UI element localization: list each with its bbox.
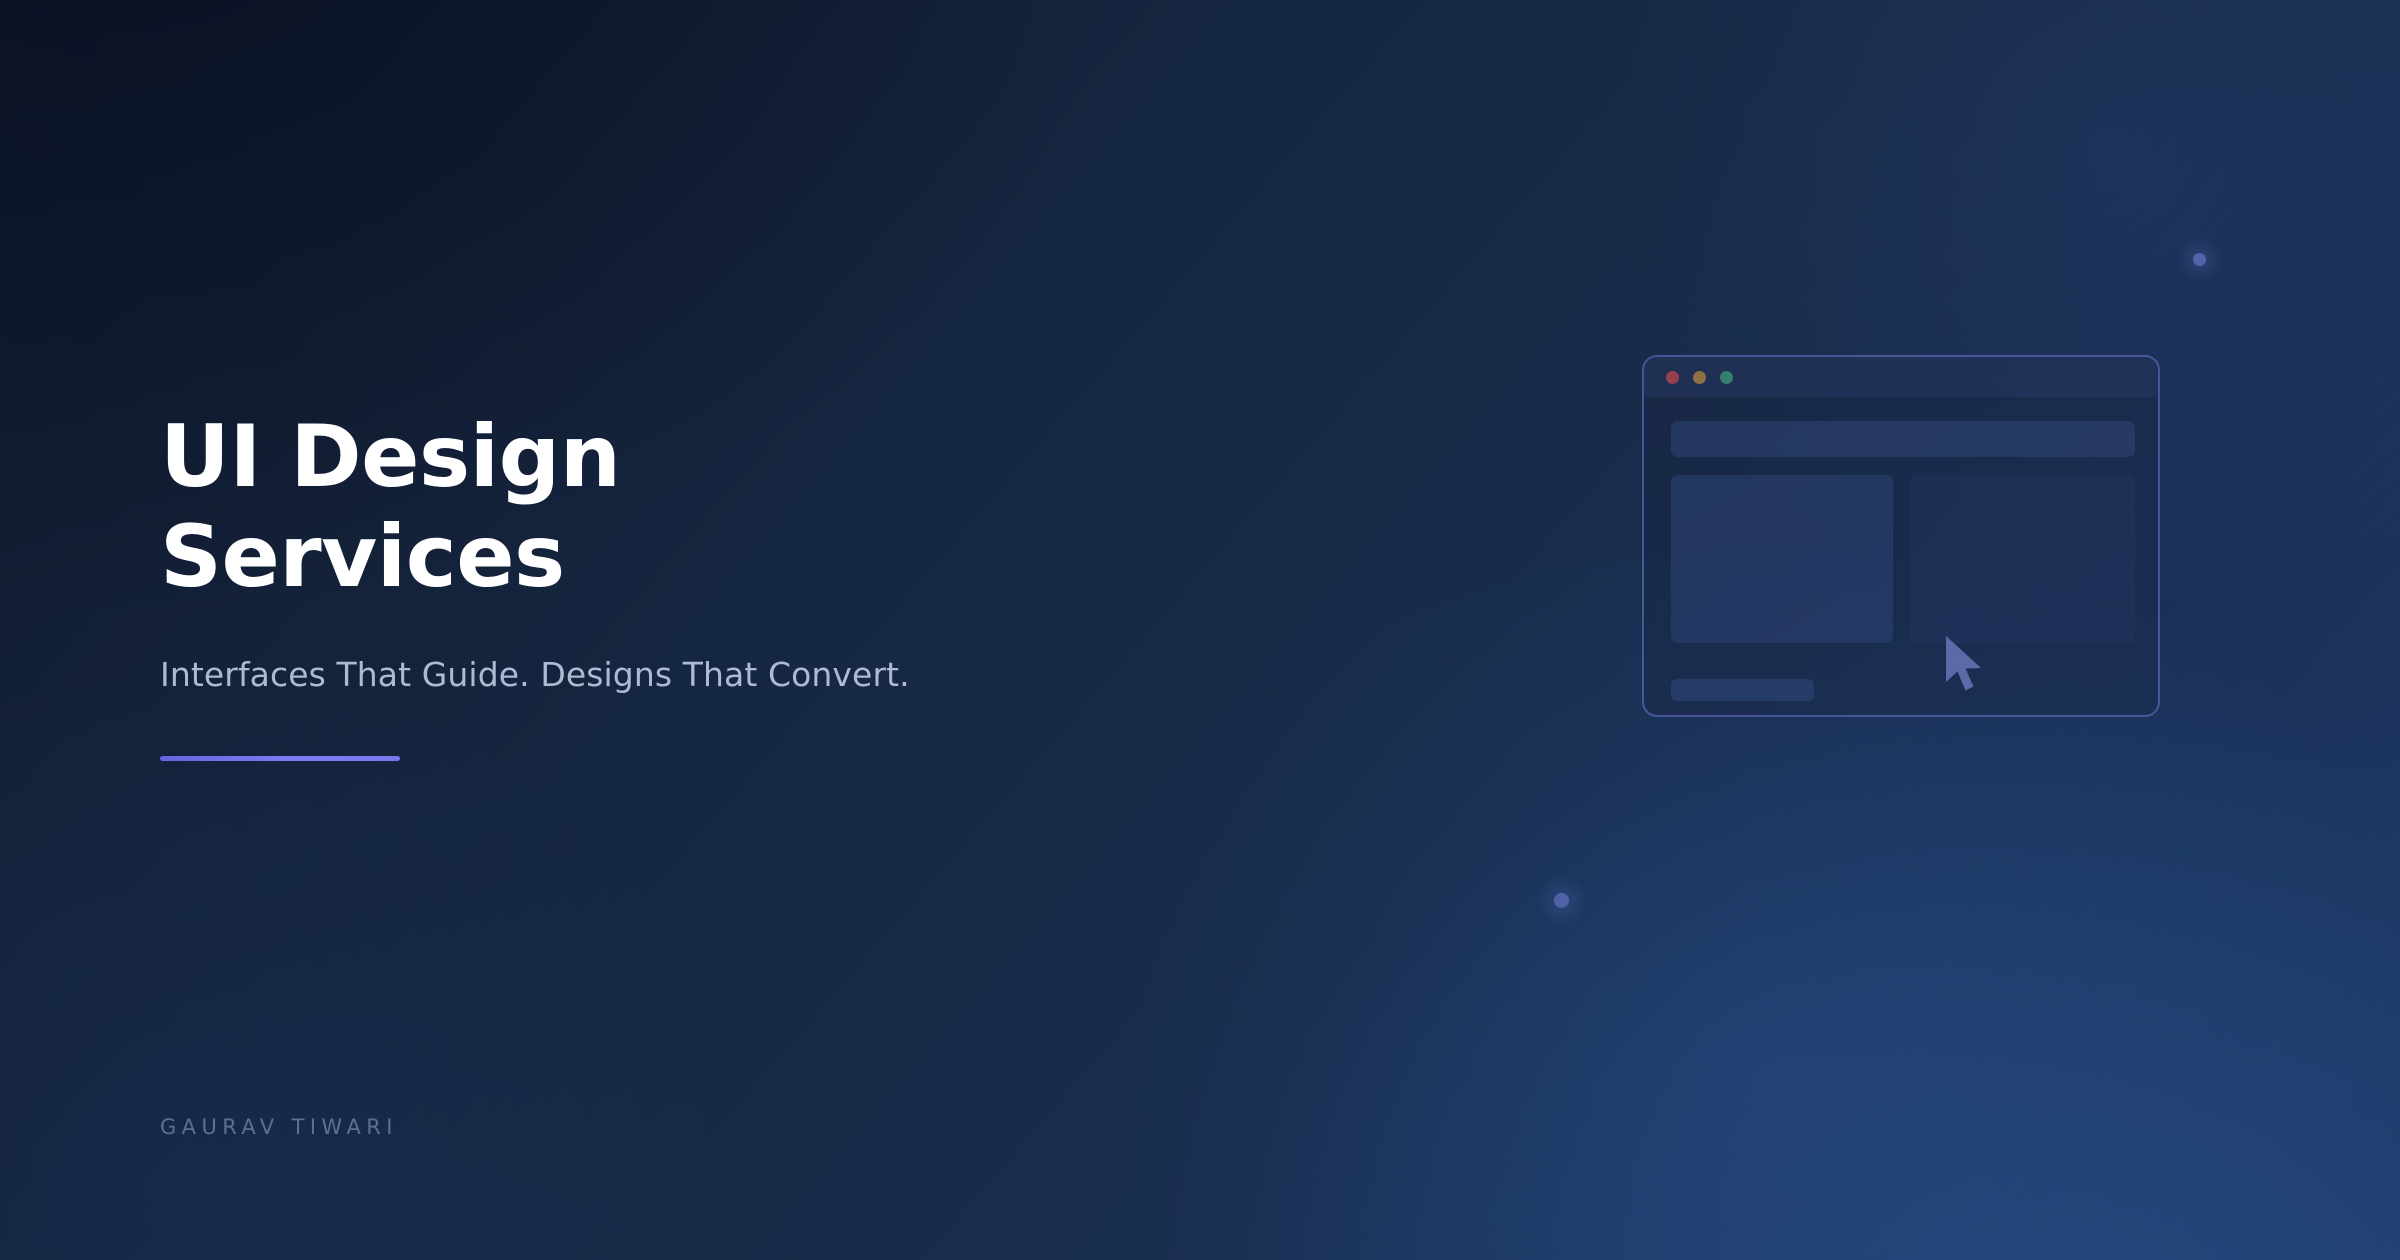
search-bar-placeholder (1671, 421, 2135, 457)
hero-text-block: UI Design Services Interfaces That Guide… (160, 408, 1260, 761)
accent-divider (160, 756, 400, 761)
accent-dot-top-right (2193, 253, 2206, 266)
maximize-dot (1720, 371, 1733, 384)
subtitle: Interfaces That Guide. Designs That Conv… (160, 608, 1260, 697)
footer-brand: GAURAV TIWARI (160, 1115, 398, 1139)
presentation-slide: UI Design Services Interfaces That Guide… (0, 0, 2400, 1260)
glow-bottom-left (0, 680, 780, 1260)
content-panel-left (1671, 475, 1893, 643)
browser-window-illustration (1642, 355, 2160, 717)
action-button-placeholder (1671, 679, 1814, 701)
mockup-body (1644, 397, 2158, 715)
mockup-titlebar (1644, 357, 2158, 397)
close-dot (1666, 371, 1679, 384)
content-panel-right (1910, 475, 2135, 643)
minimize-dot (1693, 371, 1706, 384)
accent-dot-center (1554, 893, 1569, 908)
page-title: UI Design Services (160, 408, 1260, 608)
arrow-cursor-icon (1942, 634, 1990, 696)
